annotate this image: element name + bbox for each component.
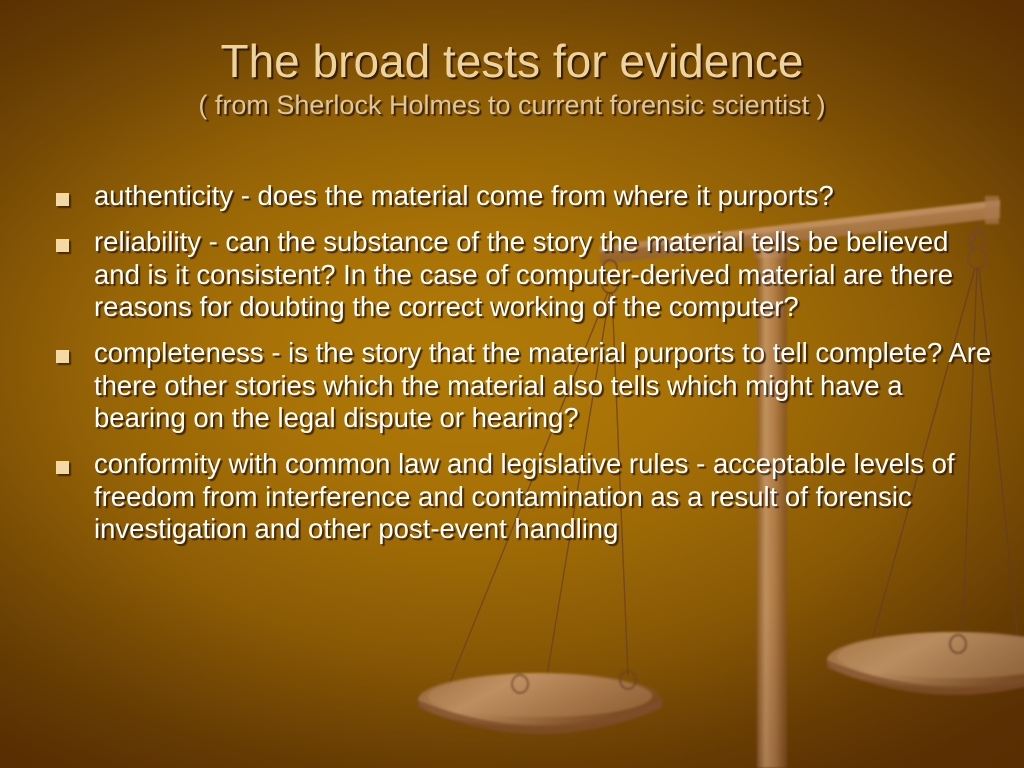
bullet-square-icon [56, 461, 69, 474]
title-block: The broad tests for evidence ( from Sher… [0, 38, 1024, 119]
bullet-text-conformity: conformity with common law and legislati… [94, 448, 994, 545]
bullet-square-icon [56, 350, 69, 363]
list-item: authenticity - does the material come fr… [56, 180, 996, 212]
bullet-text-authenticity: authenticity - does the material come fr… [94, 180, 994, 212]
list-item: completeness - is the story that the mat… [56, 337, 996, 434]
bullet-text-completeness: completeness - is the story that the mat… [94, 337, 994, 434]
bullet-list: authenticity - does the material come fr… [56, 180, 996, 545]
bullet-text-reliability: reliability - can the substance of the s… [94, 226, 994, 323]
list-item: conformity with common law and legislati… [56, 448, 996, 545]
presentation-slide: The broad tests for evidence ( from Sher… [0, 0, 1024, 768]
list-item: reliability - can the substance of the s… [56, 226, 996, 323]
bullet-square-icon [56, 239, 69, 252]
slide-subtitle: ( from Sherlock Holmes to current forens… [0, 91, 1024, 119]
slide-title: The broad tests for evidence [0, 38, 1024, 85]
bullet-square-icon [56, 193, 69, 206]
